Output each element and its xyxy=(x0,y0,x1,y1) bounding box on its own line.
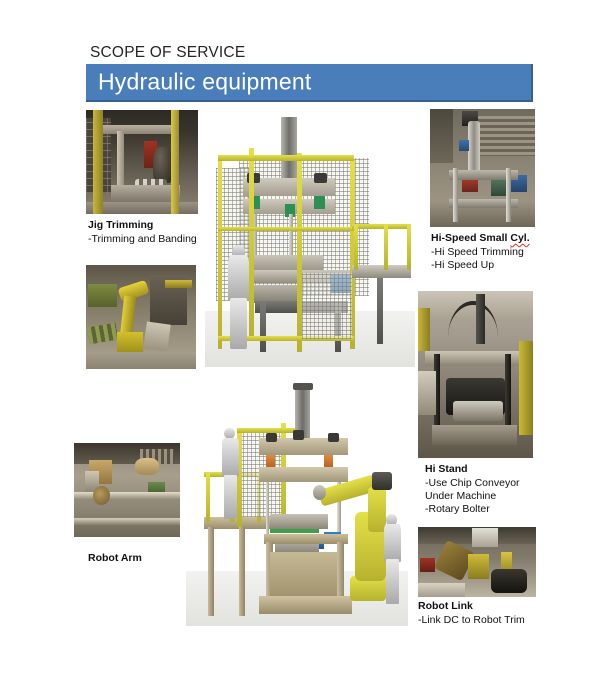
render-cage-mesh-lower xyxy=(302,273,352,339)
render-robot-motor xyxy=(372,472,392,489)
render-base-leg-left xyxy=(260,301,266,352)
render-tooling-plate xyxy=(270,514,328,529)
photo-region-panel xyxy=(144,322,172,352)
page-title-bar: Hydraulic equipment xyxy=(86,64,533,102)
render-robot-wrist xyxy=(313,485,326,500)
caption-title: Robot Arm xyxy=(88,552,142,565)
render-top-nut-a xyxy=(266,433,277,443)
photo-region-yellow-post-left xyxy=(93,110,103,214)
caption-line: Under Machine xyxy=(425,490,520,503)
render-green-spacer-right xyxy=(314,196,325,209)
photo-region-yellow-post-right xyxy=(171,110,179,214)
caption-line: -Hi Speed Up xyxy=(431,259,530,272)
photo-region-red-unit xyxy=(462,180,479,192)
photo-region-wood-roll xyxy=(135,458,158,475)
photo-region-red-cable xyxy=(420,558,434,572)
caption-hi-stand: Hi Stand -Use Chip Conveyor Under Machin… xyxy=(425,463,520,516)
render-hydraulic-cylinder xyxy=(281,117,298,183)
render-cage-rail-top xyxy=(218,155,355,161)
render-top-nut-b xyxy=(293,430,304,440)
render-mid-plate xyxy=(259,467,348,482)
photo-robot-link xyxy=(418,527,536,597)
render-mannequin-floor-legs xyxy=(386,559,399,604)
photo-region-yellow-guard-left xyxy=(418,308,430,351)
render-cage-post-fl xyxy=(218,155,223,349)
photo-region-column-right xyxy=(506,168,511,222)
render-mannequin-platform-body xyxy=(222,438,240,478)
photo-region-floor xyxy=(86,202,198,214)
render-mannequin-floor-body xyxy=(384,524,402,561)
photo-region-table xyxy=(111,185,180,202)
render-tie-rod-a xyxy=(266,482,270,542)
page-kicker: SCOPE OF SERVICE xyxy=(90,44,245,62)
photo-region-bed xyxy=(432,425,517,445)
photo-region-beam xyxy=(99,125,173,134)
photo-region-floor xyxy=(86,352,196,369)
render-platform-rail-post-c xyxy=(407,224,411,270)
photo-region-white-panel xyxy=(472,528,498,546)
caption-robot-link: Robot Link -Link DC to Robot Trim xyxy=(418,600,525,627)
caption-title-misspelled-word: Cyl. xyxy=(510,232,529,244)
caption-robot-arm: Robot Arm xyxy=(88,552,142,566)
caption-line: -Rotary Bolter xyxy=(425,503,520,516)
photo-region-column-left xyxy=(453,168,458,222)
photo-region-blue-valve xyxy=(459,140,468,152)
page-title: Hydraulic equipment xyxy=(98,69,311,96)
photo-yellow-robot-arm xyxy=(86,265,196,369)
render-operator-mannequin-legs xyxy=(230,298,247,349)
photo-region-green-machine xyxy=(88,284,117,307)
photo-region-part xyxy=(453,401,504,421)
render-platform-rail-post-a xyxy=(354,224,358,270)
photo-region-yellow-rail xyxy=(165,280,191,288)
photo-region-valve xyxy=(93,486,110,505)
photo-region-roller-shutter xyxy=(478,116,535,156)
photo-jig-trimming-cell xyxy=(86,110,198,214)
render-platform-leg-a xyxy=(208,527,214,616)
photo-region-conveyor xyxy=(87,323,118,344)
render-top-nut-c xyxy=(328,433,339,443)
render-platform-leg xyxy=(377,278,383,344)
photo-pipes-and-valves xyxy=(74,443,180,537)
photo-region-cylinder xyxy=(468,121,481,173)
photo-region-yellow-guard-right xyxy=(519,341,533,435)
photo-region-yellow-guard-a xyxy=(468,554,489,579)
render-cylinder-cap xyxy=(293,383,313,390)
photo-hi-stand-press xyxy=(418,291,533,458)
caption-hi-speed-small-cyl: Hi-Speed Small Cyl. -Hi Speed Trimming -… xyxy=(431,232,530,272)
caption-title-prefix: Hi-Speed Small xyxy=(431,232,510,244)
render-platform-rail-top xyxy=(352,224,411,229)
render-platform-rail-post-1 xyxy=(206,472,210,522)
caption-line: -Link DC to Robot Trim xyxy=(418,614,525,627)
caption-title: Jig Trimming xyxy=(88,219,197,232)
caption-title: Robot Link xyxy=(418,600,525,613)
caption-line: -Use Chip Conveyor xyxy=(425,477,520,490)
photo-region-left-wall xyxy=(430,109,453,163)
photo-region-robot xyxy=(153,147,171,182)
render-top-nut-right xyxy=(314,173,327,183)
photo-region-dark-machine xyxy=(491,569,526,593)
photo-hi-speed-small-cyl xyxy=(430,109,535,227)
render-cage-post-ml xyxy=(249,148,254,342)
render-stand-base xyxy=(259,596,352,613)
render-operator-mannequin-body xyxy=(228,255,249,301)
caption-jig-trimming: Jig Trimming -Trimming and Banding xyxy=(88,219,197,246)
render-cage-rail-mid xyxy=(218,227,355,231)
render-platform-deck xyxy=(352,265,411,278)
photo-region-column-right xyxy=(505,354,511,431)
render-platform-leg-b xyxy=(239,527,245,616)
render-stand-leg-right xyxy=(337,542,344,602)
caption-line: -Trimming and Banding xyxy=(88,233,197,246)
photo-region-pipe-upper xyxy=(74,492,180,500)
render-stand-top xyxy=(264,534,348,544)
slide-canvas: SCOPE OF SERVICE Hydraulic equipment Jig… xyxy=(0,0,608,684)
render-robot-forearm xyxy=(368,487,386,532)
photo-region-floor xyxy=(418,583,465,597)
photo-region-pipe-lower xyxy=(74,518,180,525)
photo-region-control-box xyxy=(418,371,436,414)
render-platform-rail-post-b xyxy=(384,224,388,270)
render-press-with-robot xyxy=(186,378,408,626)
render-press-with-cage xyxy=(205,112,415,367)
render-mannequin-platform-legs xyxy=(224,475,237,520)
caption-title: Hi Stand xyxy=(425,463,520,476)
photo-region-ram xyxy=(476,294,485,344)
caption-line: -Hi Speed Trimming xyxy=(431,246,530,259)
caption-title: Hi-Speed Small Cyl. xyxy=(431,232,530,245)
render-stand-panel xyxy=(270,552,337,597)
